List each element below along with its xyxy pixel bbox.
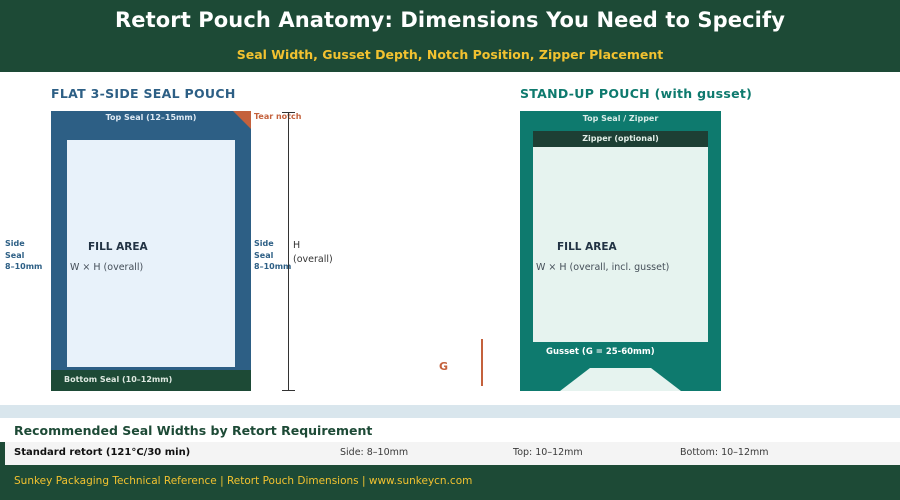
standup-pouch-zipper-label: Zipper (optional) <box>533 134 708 143</box>
flat-pouch-top-seal-label: Top Seal (12–15mm) <box>51 113 251 122</box>
standup-pouch-fill-area-sub: W × H (overall, incl. gusset) <box>536 262 669 273</box>
height-dimension-cap-top <box>282 112 295 113</box>
standup-pouch-top-seal-label: Top Seal / Zipper <box>520 114 721 123</box>
height-dimension-line <box>288 112 289 390</box>
table-row-accent-bar <box>0 442 5 465</box>
page-subtitle: Seal Width, Gusset Depth, Notch Position… <box>0 47 900 62</box>
flat-pouch-panel-title: FLAT 3-SIDE SEAL POUCH <box>51 86 236 101</box>
gusset-dimension-line <box>481 339 483 386</box>
table-cell-side: Side: 8–10mm <box>340 447 408 458</box>
table-cell-top: Top: 10–12mm <box>513 447 583 458</box>
gusset-shape-icon <box>520 366 721 391</box>
table-cell-requirement: Standard retort (121°C/30 min) <box>14 447 190 458</box>
flat-pouch-fill-area-title: FILL AREA <box>88 241 148 253</box>
standup-pouch-fill-area-title: FILL AREA <box>557 241 617 253</box>
height-dimension-label: H(overall) <box>293 239 333 267</box>
table-cell-bottom: Bottom: 10–12mm <box>680 447 769 458</box>
standup-pouch-panel-title: STAND-UP POUCH (with gusset) <box>520 86 752 101</box>
footer-text: Sunkey Packaging Technical Reference | R… <box>14 475 472 487</box>
infographic-page: Retort Pouch Anatomy: Dimensions You Nee… <box>0 0 900 500</box>
page-title: Retort Pouch Anatomy: Dimensions You Nee… <box>0 8 900 32</box>
table-section-title: Recommended Seal Widths by Retort Requir… <box>14 423 372 438</box>
flat-pouch-fill-area <box>67 140 235 367</box>
section-divider <box>0 405 900 418</box>
standup-pouch-gusset-label: Gusset (G = 25-60mm) <box>546 347 655 357</box>
tear-notch-label: Tear notch <box>254 112 301 121</box>
height-dimension-cap-bottom <box>282 390 295 391</box>
flat-pouch-body <box>51 111 251 391</box>
flat-pouch-bottom-seal-label: Bottom Seal (10–12mm) <box>64 375 172 384</box>
flat-pouch-side-seal-right-label: SideSeal8–10mm <box>254 238 291 273</box>
gusset-dimension-label: G <box>439 360 448 373</box>
flat-pouch-fill-area-sub: W × H (overall) <box>70 262 143 273</box>
tear-notch-icon <box>233 111 251 129</box>
flat-pouch-side-seal-left-label: SideSeal8–10mm <box>5 238 42 273</box>
header-banner: Retort Pouch Anatomy: Dimensions You Nee… <box>0 0 900 72</box>
